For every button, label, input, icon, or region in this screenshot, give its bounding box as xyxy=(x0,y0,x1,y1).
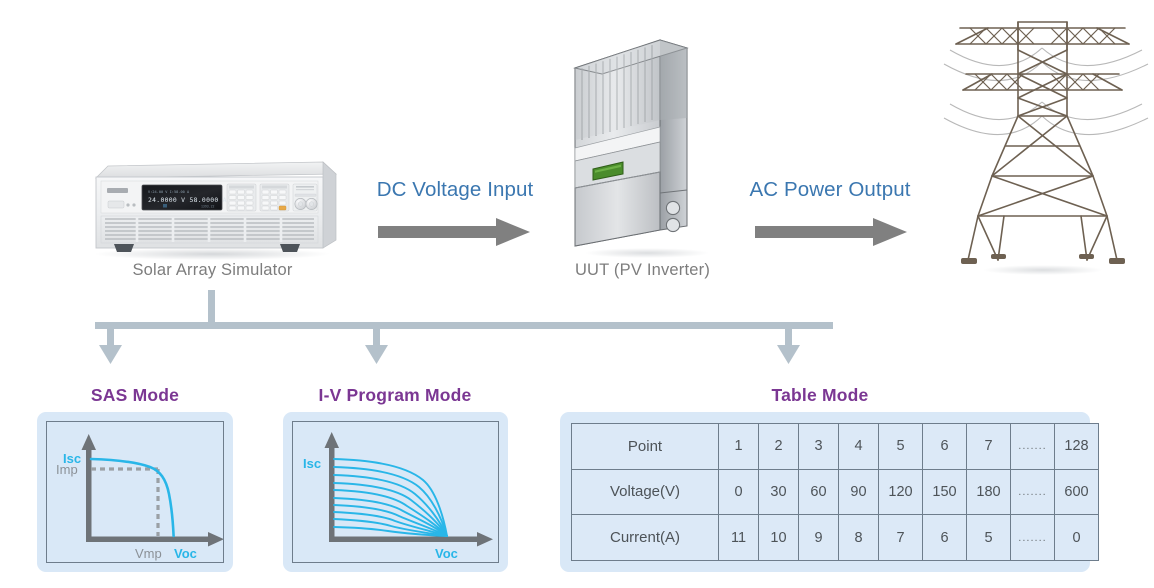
cell-point-5: 5 xyxy=(879,424,923,470)
cell-voltage-128: 600 xyxy=(1055,469,1099,515)
row-label-current: Current(A) xyxy=(572,515,719,561)
cell-current-7: 5 xyxy=(967,515,1011,561)
table-mode-panel: Point 1 2 3 4 5 6 7 ....... 128 Voltage(… xyxy=(560,412,1090,572)
cell-voltage-6: 150 xyxy=(923,469,967,515)
transmission-tower-image xyxy=(930,20,1154,280)
row-label-point: Point xyxy=(572,424,719,470)
svg-text:V:24.00 V I:58.00 A: V:24.00 V I:58.00 A xyxy=(148,190,190,194)
table-mode-table: Point 1 2 3 4 5 6 7 ....... 128 Voltage(… xyxy=(571,423,1099,561)
diagram-canvas: V:24.00 V I:58.00 A 24.0000 V 58.0000 A … xyxy=(0,0,1154,588)
cell-current-4: 8 xyxy=(839,515,879,561)
cell-point-1: 1 xyxy=(719,424,759,470)
svg-text:1393.22: 1393.22 xyxy=(201,205,215,209)
svg-text:Vmp: Vmp xyxy=(135,546,162,561)
solar-array-simulator-caption: Solar Array Simulator xyxy=(75,261,350,280)
svg-text:24.0000 V 58.0000 A: 24.0000 V 58.0000 A xyxy=(148,196,227,204)
cell-point-2: 2 xyxy=(759,424,799,470)
cell-voltage-ellipsis: ....... xyxy=(1011,469,1055,515)
cell-point-4: 4 xyxy=(839,424,879,470)
solar-array-simulator-image: V:24.00 V I:58.00 A 24.0000 V 58.0000 A … xyxy=(80,148,345,260)
cell-point-128: 128 xyxy=(1055,424,1099,470)
cell-point-ellipsis: ....... xyxy=(1011,424,1055,470)
ac-power-output-arrow-icon xyxy=(755,216,910,248)
cell-current-ellipsis: ....... xyxy=(1011,515,1055,561)
cell-point-3: 3 xyxy=(799,424,839,470)
sas-mode-title: SAS Mode xyxy=(55,385,215,406)
table-row: Voltage(V) 0 30 60 90 120 150 180 ......… xyxy=(572,469,1099,515)
row-label-voltage: Voltage(V) xyxy=(572,469,719,515)
table-row: Current(A) 11 10 9 8 7 6 5 ....... 0 xyxy=(572,515,1099,561)
svg-text:Voc: Voc xyxy=(435,546,458,561)
cell-current-1: 11 xyxy=(719,515,759,561)
pv-inverter-caption: UUT (PV Inverter) xyxy=(530,261,755,280)
cell-voltage-1: 0 xyxy=(719,469,759,515)
cell-voltage-5: 120 xyxy=(879,469,923,515)
cell-current-0: 0 xyxy=(1055,515,1099,561)
svg-text:Isc: Isc xyxy=(303,456,321,471)
iv-program-mode-title: I-V Program Mode xyxy=(300,385,490,406)
svg-text:Imp: Imp xyxy=(56,462,78,477)
svg-text:Voc: Voc xyxy=(174,546,197,561)
cell-current-6: 6 xyxy=(923,515,967,561)
cell-point-7: 7 xyxy=(967,424,1011,470)
sas-mode-panel: Isc Imp Vmp Voc xyxy=(37,412,233,572)
pv-inverter-image xyxy=(555,30,730,260)
iv-program-mode-panel: Isc Voc xyxy=(283,412,508,572)
table-row: Point 1 2 3 4 5 6 7 ....... 128 xyxy=(572,424,1099,470)
cell-voltage-4: 90 xyxy=(839,469,879,515)
dc-voltage-input-label: DC Voltage Input xyxy=(365,178,545,202)
table-mode-title: Table Mode xyxy=(720,385,920,406)
cell-current-5: 7 xyxy=(879,515,923,561)
cell-voltage-7: 180 xyxy=(967,469,1011,515)
cell-current-3: 9 xyxy=(799,515,839,561)
cell-point-6: 6 xyxy=(923,424,967,470)
ac-power-output-label: AC Power Output xyxy=(735,178,925,202)
sas-mode-chart: Isc Imp Vmp Voc xyxy=(46,421,224,563)
dc-voltage-input-arrow-icon xyxy=(378,216,533,248)
iv-program-mode-chart: Isc Voc xyxy=(292,421,499,563)
cell-current-2: 10 xyxy=(759,515,799,561)
cell-voltage-3: 60 xyxy=(799,469,839,515)
cell-voltage-2: 30 xyxy=(759,469,799,515)
branch-connector xyxy=(95,290,855,370)
